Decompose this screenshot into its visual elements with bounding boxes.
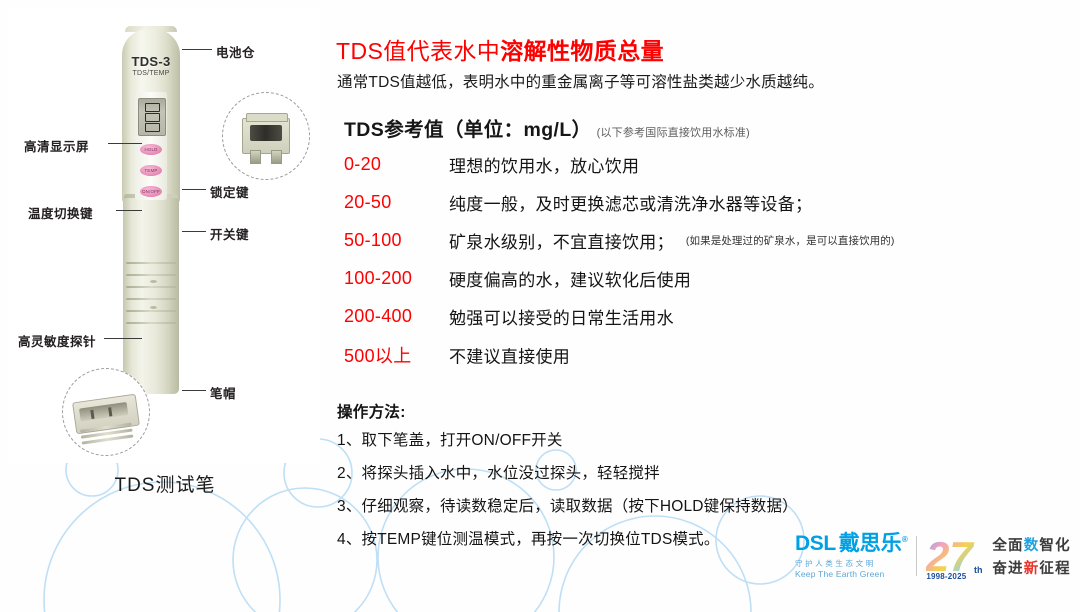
battery-compartment-art: [242, 118, 290, 154]
slogan-2c: 征程: [1039, 561, 1070, 577]
pen-cap-grooves: [123, 262, 179, 332]
slogan-line-2: 奋进新征程: [992, 557, 1071, 578]
pen-hold-button-glyph: HOLD: [140, 144, 162, 155]
reference-desc: 理想的饮用水，放心饮用: [449, 157, 639, 176]
reference-row: 100-200硬度偏高的水，建议软化后使用: [344, 266, 1080, 304]
pen-model-label: TDS-3: [122, 54, 180, 69]
reference-row: 20-50纯度一般，及时更换滤芯或清洗净水器等设备；: [344, 190, 1080, 228]
anniversary-suffix: th: [974, 565, 983, 575]
dsl-logo: DSL戴思乐®: [795, 533, 907, 555]
dsl-tagline-en: Keep The Earth Green: [795, 569, 907, 579]
pen-power-button[interactable]: ON/OFF: [140, 186, 162, 197]
reference-row: 200-400勉强可以接受的日常生活用水: [344, 304, 1080, 342]
product-caption: TDS测试笔: [0, 470, 330, 497]
pen-hold-button[interactable]: HOLD: [140, 144, 162, 155]
reference-row: 500以上不建议直接使用: [344, 342, 1080, 380]
page-title-emphasis: 溶解性物质总量: [500, 38, 664, 64]
reference-note: (如果是处理过的矿泉水，是可以直接饮用的): [686, 235, 895, 247]
slide-canvas: TDS-3 TDS/TEMP HOLD TEMP ON/OFF: [0, 0, 1080, 612]
leader-line-probe: [104, 338, 142, 339]
anniversary-years: 1998-2025: [926, 572, 966, 581]
logo-divider: [916, 536, 917, 576]
slogan-1c: 智化: [1039, 538, 1070, 554]
reference-desc: 勉强可以接受的日常生活用水: [449, 309, 674, 328]
brand-logo-lockup: DSL戴思乐® 守护人类生态文明 Keep The Earth Green: [795, 528, 1071, 584]
callout-battery-compartment: 电池仓: [216, 42, 255, 61]
pen-power-button-glyph: ON/OFF: [140, 186, 162, 197]
operation-step: 2、将探头插入水中，水位没过探头，轻轻搅拌: [337, 461, 1077, 494]
anniversary-badge: 27 th 1998-2025 全面数智化 奋进新征程: [926, 533, 1071, 579]
operation-step: 3、仔细观察，待读数稳定后，读取数据（按下HOLD键保持数据）: [337, 494, 1077, 527]
battery-compartment-inset: [222, 92, 310, 180]
lcd-digit-segment: [145, 113, 160, 122]
pen-temp-button[interactable]: TEMP: [140, 165, 162, 176]
anniversary-number-art: 27 th 1998-2025: [926, 533, 986, 579]
probe-closeup-inset: [62, 368, 150, 456]
reference-range: 200-400: [344, 306, 449, 327]
leader-line-cap: [182, 390, 206, 391]
slogan-2b: 新: [1024, 561, 1040, 577]
product-illustration-panel: TDS-3 TDS/TEMP HOLD TEMP ON/OFF: [0, 0, 330, 612]
registered-mark-icon: ®: [902, 535, 908, 544]
slogan-line-1: 全面数智化: [992, 534, 1071, 555]
dsl-tagline-cn: 守护人类生态文明: [795, 558, 907, 569]
callout-temp-key: 温度切换键: [28, 203, 93, 222]
reference-values-heading-main: TDS参考值（单位：mg/L）: [344, 119, 592, 141]
reference-range: 50-100: [344, 230, 449, 251]
slogan-2a: 奋进: [992, 561, 1023, 577]
reference-desc: 矿泉水级别，不宜直接饮用；: [449, 233, 674, 252]
probe-closeup-art: [72, 393, 140, 434]
callout-hold-key: 锁定键: [210, 182, 249, 201]
leader-line-hold: [182, 189, 206, 190]
slogan-1b: 数: [1024, 538, 1040, 554]
callout-display: 高清显示屏: [24, 136, 89, 155]
lcd-digit-segment: [145, 123, 160, 132]
dsl-logo-en: DSL: [795, 532, 836, 555]
leader-line-display: [108, 143, 142, 144]
reference-row: 0-20理想的饮用水，放心饮用: [344, 152, 1080, 190]
pen-temp-button-glyph: TEMP: [140, 165, 162, 176]
reference-range: 0-20: [344, 154, 449, 175]
reference-values-heading-note: (以下参考国际直接饮用水标准): [597, 127, 750, 139]
content-column: TDS值代表水中溶解性物质总量 通常TDS值越低，表明水中的重金属离子等可溶性盐…: [336, 0, 1080, 612]
page-title-plain: TDS值代表水中: [336, 38, 500, 64]
dsl-logo-cn: 戴思乐: [839, 532, 902, 555]
operation-step: 1、取下笔盖，打开ON/OFF开关: [337, 428, 1077, 461]
callout-power-key: 开关键: [210, 224, 249, 243]
callout-pen-cap: 笔帽: [210, 383, 236, 402]
dsl-brand-block: DSL戴思乐® 守护人类生态文明 Keep The Earth Green: [795, 533, 907, 578]
leader-line-temp: [116, 210, 142, 211]
anniversary-slogan: 全面数智化 奋进新征程: [992, 534, 1071, 578]
pen-lcd-screen: [138, 98, 166, 136]
lcd-digit-segment: [145, 103, 160, 112]
leader-line-battery: [182, 49, 212, 50]
reference-desc: 纯度一般，及时更换滤芯或清洗净水器等设备；: [449, 195, 812, 214]
page-subtitle: 通常TDS值越低，表明水中的重金属离子等可溶性盐类越少水质越纯。: [337, 70, 824, 92]
reference-range: 100-200: [344, 268, 449, 289]
reference-range: 500以上: [344, 342, 449, 368]
slogan-1a: 全面: [992, 538, 1023, 554]
reference-row: 50-100矿泉水级别，不宜直接饮用；(如果是处理过的矿泉水，是可以直接饮用的): [344, 228, 1080, 266]
reference-desc: 硬度偏高的水，建议软化后使用: [449, 271, 691, 290]
callout-probe: 高灵敏度探针: [18, 331, 96, 350]
page-title: TDS值代表水中溶解性物质总量: [336, 32, 664, 66]
pen-model-sublabel: TDS/TEMP: [122, 70, 180, 77]
reference-values-heading: TDS参考值（单位：mg/L）(以下参考国际直接饮用水标准): [344, 113, 750, 142]
operation-method-heading: 操作方法:: [337, 400, 406, 422]
reference-values-list: 0-20理想的饮用水，放心饮用 20-50纯度一般，及时更换滤芯或清洗净水器等设…: [344, 152, 1080, 380]
reference-range: 20-50: [344, 192, 449, 213]
reference-desc: 不建议直接使用: [449, 348, 570, 367]
leader-line-power: [182, 231, 206, 232]
